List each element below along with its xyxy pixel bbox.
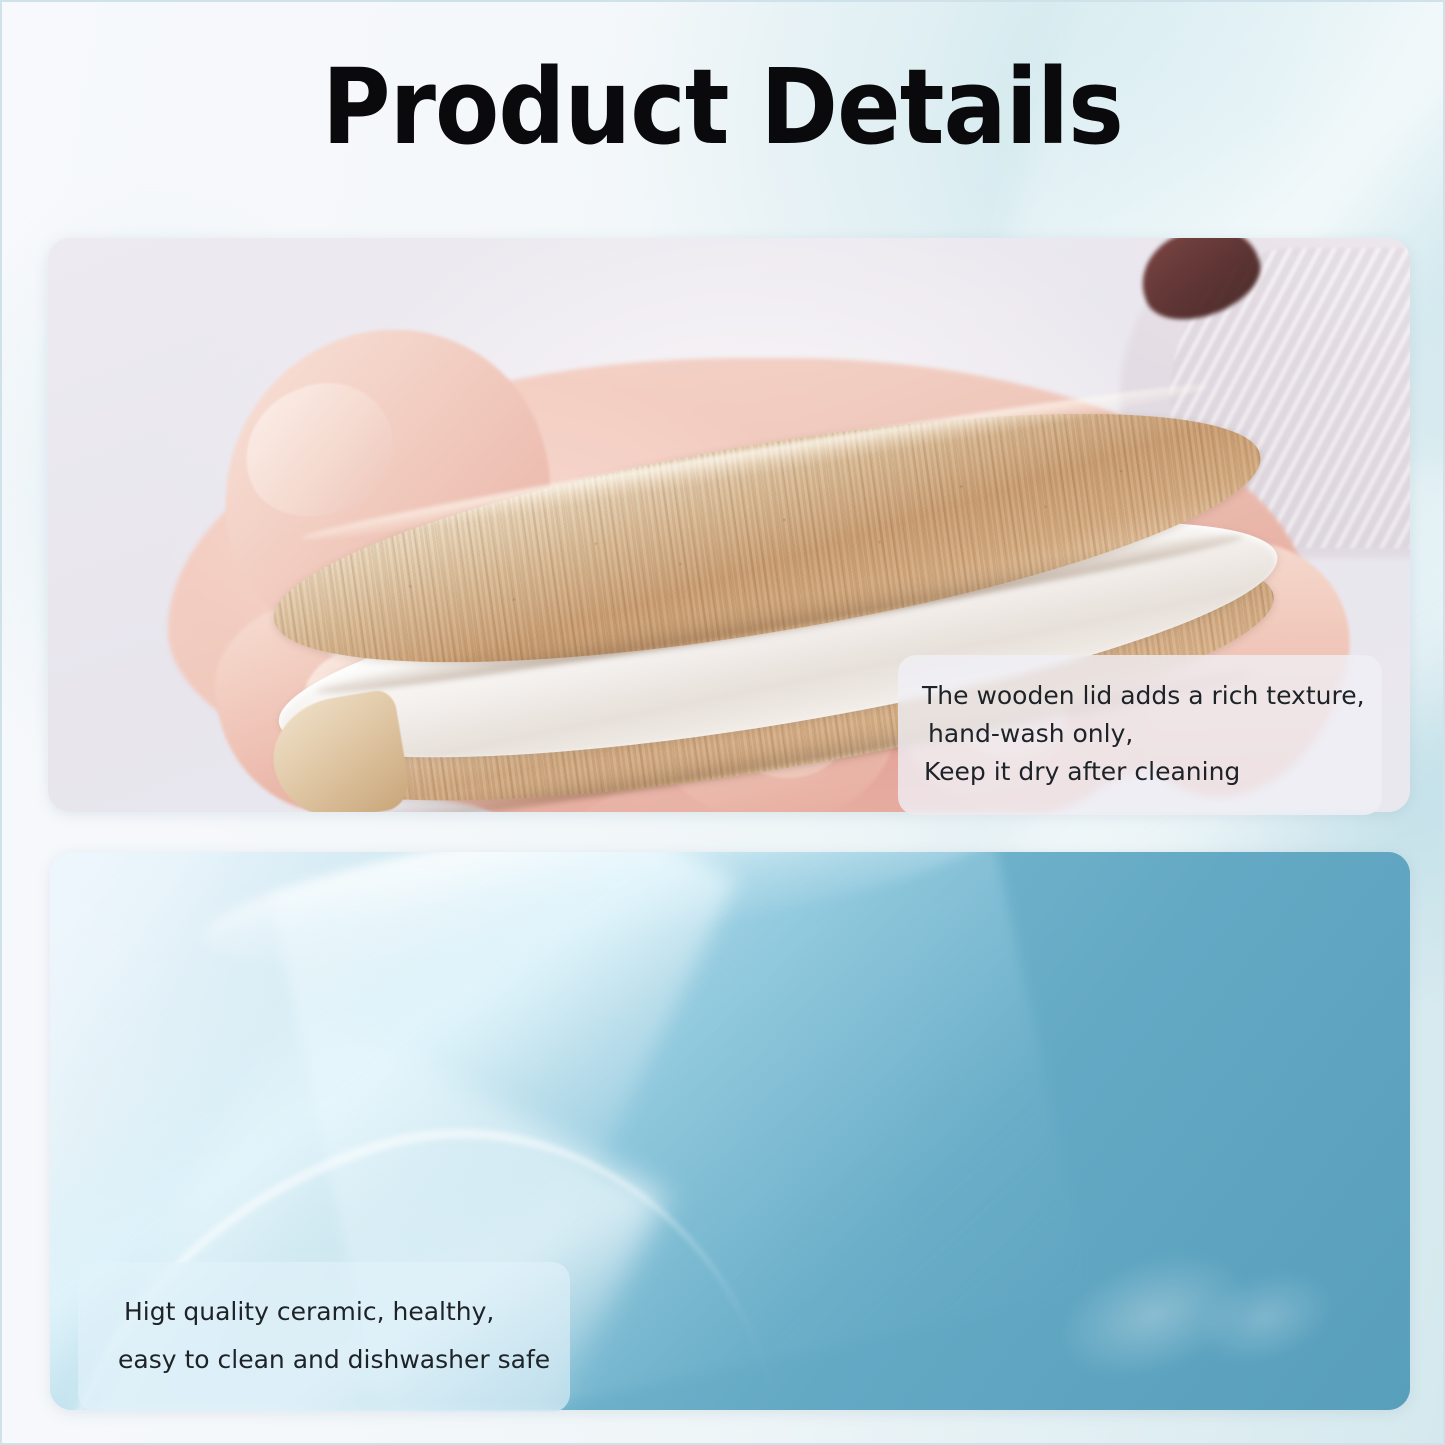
caption-line: The wooden lid adds a rich texture, [922, 677, 1358, 715]
page-title: Product Details [72, 55, 1373, 159]
product-details-page: Product Details [0, 0, 1445, 1445]
caption-wooden-lid: The wooden lid adds a rich texture, hand… [898, 655, 1382, 815]
caption-line: easy to clean and dishwasher safe [104, 1336, 544, 1384]
caption-line: Higt quality ceramic, healthy, [104, 1288, 544, 1336]
caption-line: Keep it dry after cleaning [922, 753, 1358, 791]
caption-line: hand-wash only, [922, 715, 1358, 753]
caption-ceramic-body: Higt quality ceramic, healthy, easy to c… [78, 1262, 570, 1412]
